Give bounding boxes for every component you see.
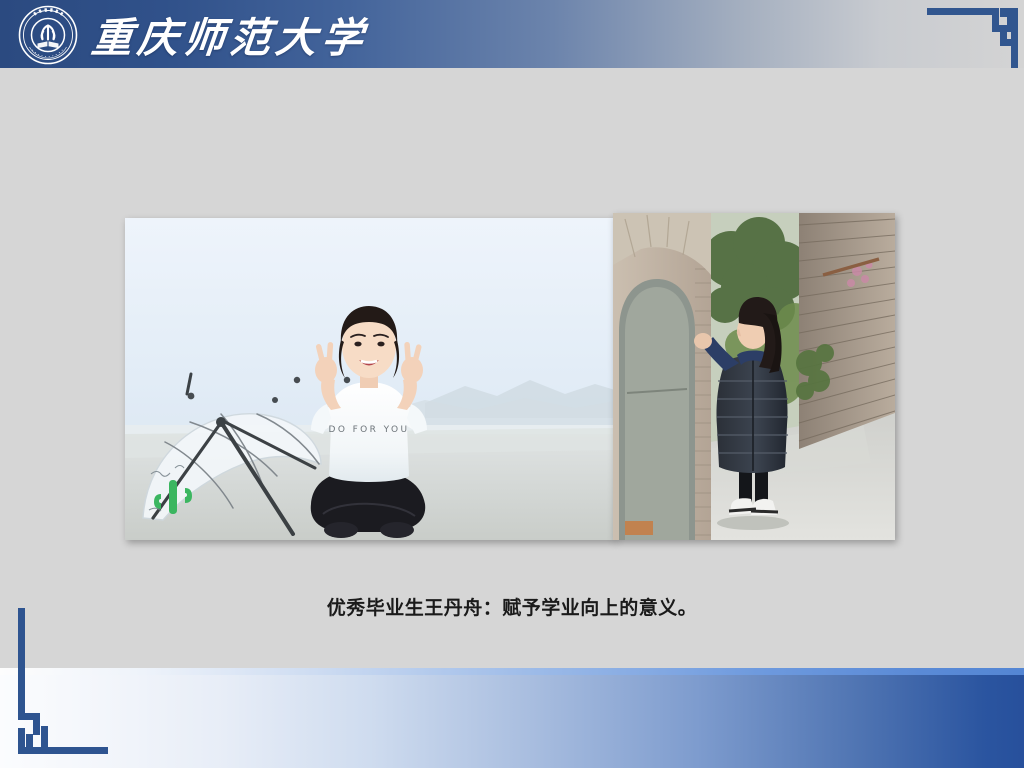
photo-composite: DO FOR YOU [125,213,895,540]
footer-gradient-band [0,675,1024,768]
chinese-fret-corner-icon-bottom-left [18,608,138,768]
university-wordmark: 重庆师范大学 [89,2,372,66]
university-seal-icon [18,5,78,65]
footer-accent-line [0,668,1024,675]
slide-header: 重庆师范大学 [0,0,1024,68]
svg-text:DO FOR YOU: DO FOR YOU [329,425,410,435]
slide-footer [0,668,1024,768]
graduate-portrait-outdoor: DO FOR YOU [125,218,615,540]
slide-caption: 优秀毕业生王丹舟：赋予学业向上的意义。 [0,593,1024,620]
slide-canvas: 重庆师范大学 [0,0,1024,768]
graduate-portrait-alley [613,213,895,540]
header-inner: 重庆师范大学 [0,0,1024,68]
slide-body: DO FOR YOU [0,68,1024,668]
